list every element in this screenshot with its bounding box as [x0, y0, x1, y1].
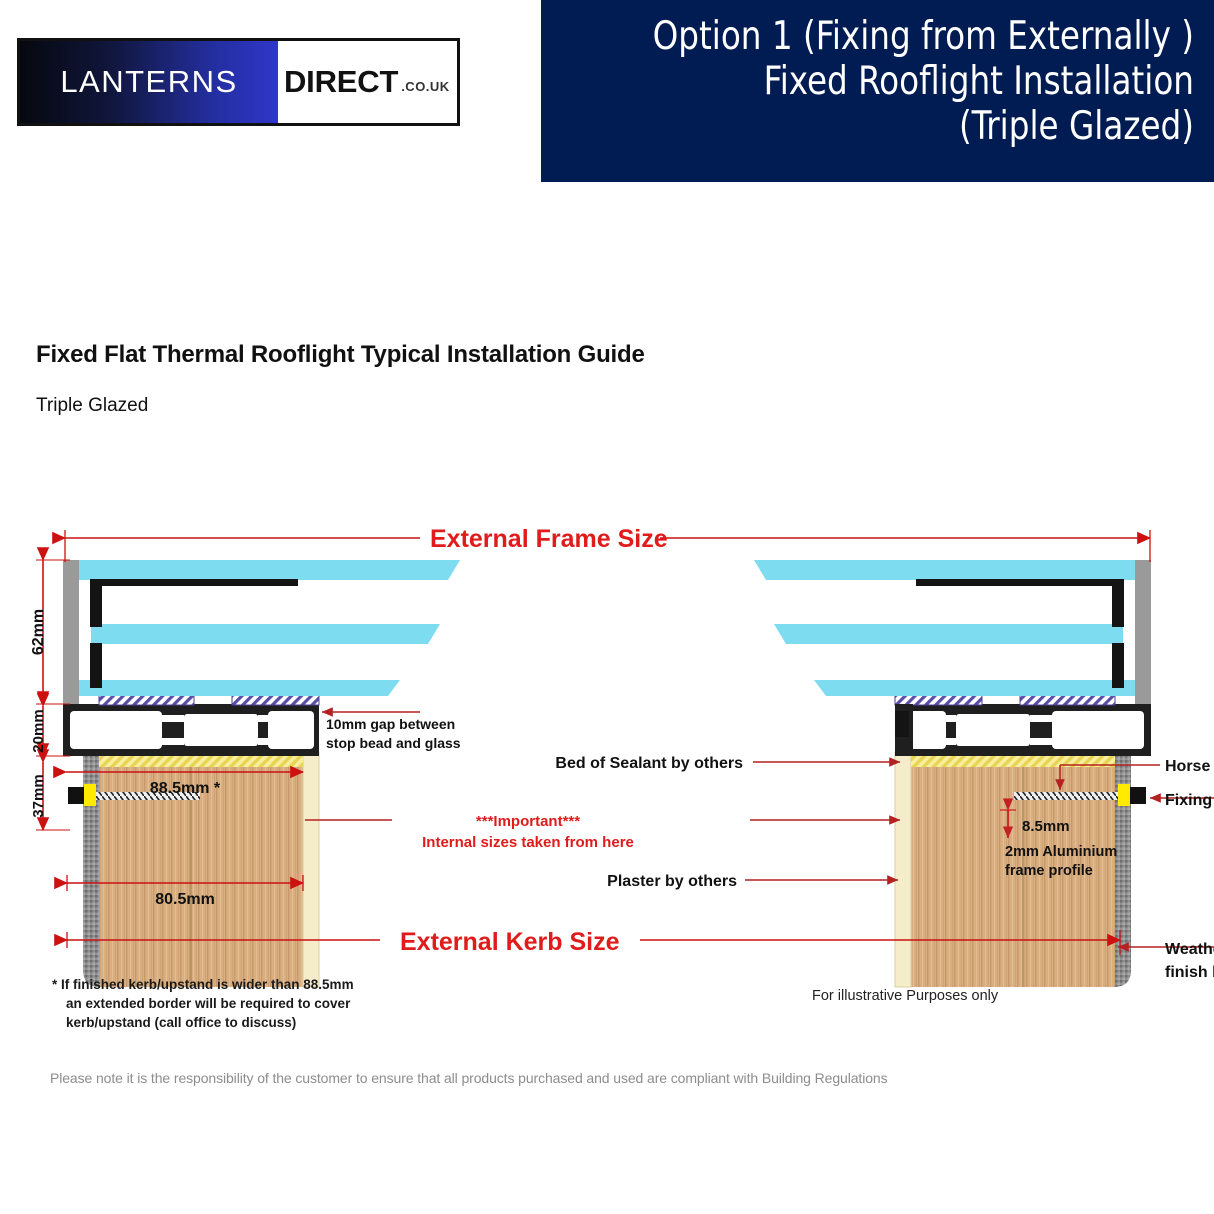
label-important-line1: ***Important*** [476, 813, 580, 830]
logo-lanterns-block: LANTERNS [20, 41, 278, 123]
label-bed-of-sealant: Bed of Sealant by others [555, 755, 743, 772]
spacer-bar-right-lower [1112, 643, 1124, 688]
label-aluminium-profile-line2: frame profile [1005, 863, 1093, 879]
logo-lanterns-text: LANTERNS [60, 64, 237, 100]
logo-tld-text: .CO.UK [401, 79, 450, 94]
glass-pane-inner-left [79, 680, 400, 696]
label-37mm: 37mm [30, 774, 47, 817]
plaster-right [895, 752, 911, 987]
illustrative-note: For illustrative Purposes only [812, 988, 998, 1004]
sealant-bed-left [99, 755, 303, 767]
glass-pane-outer-left [79, 560, 460, 580]
plaster-left [303, 752, 319, 987]
fixing-screw-right [1014, 792, 1118, 800]
label-20mm: 20mm [30, 709, 47, 752]
spacer-bar-left-lower [90, 643, 102, 688]
label-stop-bead-gap-line1: 10mm gap between [326, 716, 455, 732]
label-8-5mm: 8.5mm [1022, 818, 1070, 835]
label-external-kerb-size: External Kerb Size [400, 928, 620, 956]
label-80-5mm: 80.5mm [155, 891, 215, 908]
spacer-bar-right-upper [1112, 579, 1124, 627]
aluminium-frame-right [895, 704, 1151, 756]
aluminium-frame-left [63, 704, 319, 756]
glass-pane-outer-right [754, 560, 1135, 580]
banner-line-1: Option 1 (Fixing from Externally ) [605, 14, 1194, 59]
spacer-bar-left-upper [90, 579, 102, 627]
fixing-screw-cover-right [1130, 787, 1146, 804]
label-horse-shoe-packer: Horse shoe packer [1165, 758, 1214, 775]
label-weathered-line1: Weathered external [1165, 941, 1214, 958]
banner-line-2: Fixed Rooflight Installation [605, 59, 1194, 104]
kerb-footnote-line2: an extended border will be required to c… [52, 994, 382, 1013]
kerb-footnote-line1: * If finished kerb/upstand is wider than… [52, 977, 354, 992]
title-banner: Option 1 (Fixing from Externally ) Fixed… [541, 0, 1214, 182]
building-regs-disclaimer: Please note it is the responsibility of … [50, 1070, 887, 1086]
left-section-assembly [63, 560, 460, 987]
logo-direct-block: DIRECT .CO.UK [278, 41, 457, 123]
horse-shoe-packer-left [84, 784, 96, 806]
glass-pane-inner-right [814, 680, 1135, 696]
glass-pane-middle-left [91, 624, 440, 644]
glass-pane-middle-right [774, 624, 1123, 644]
banner-line-3: (Triple Glazed) [605, 104, 1194, 149]
label-62mm: 62mm [30, 609, 47, 655]
page-header: LANTERNS DIRECT .CO.UK Option 1 (Fixing … [0, 0, 1214, 190]
label-88-5mm: 88.5mm * [150, 780, 221, 797]
kerb-footnote-line3: kerb/upstand (call office to discuss) [52, 1013, 382, 1032]
kerb-footnote: * If finished kerb/upstand is wider than… [52, 975, 382, 1032]
label-plaster: Plaster by others [607, 873, 737, 890]
label-stop-bead-gap-line2: stop bead and glass [326, 735, 461, 751]
page-subtitle: Triple Glazed [36, 395, 148, 417]
label-aluminium-profile-line1: 2mm Aluminium [1005, 844, 1117, 860]
logo-direct-text: DIRECT [284, 64, 398, 100]
label-weathered-line2: finish by others [1165, 964, 1214, 981]
fixing-screw-cover-left [68, 787, 84, 804]
label-external-frame-size: External Frame Size [430, 525, 668, 553]
horse-shoe-packer-right [1118, 784, 1130, 806]
label-fixing-screw-cover: Fixing Screw Cover [1165, 792, 1214, 809]
label-important-line2: Internal sizes taken from here [422, 834, 634, 851]
page-title: Fixed Flat Thermal Rooflight Typical Ins… [36, 341, 645, 369]
brand-logo: LANTERNS DIRECT .CO.UK [17, 38, 460, 126]
right-section-assembly [754, 560, 1151, 987]
